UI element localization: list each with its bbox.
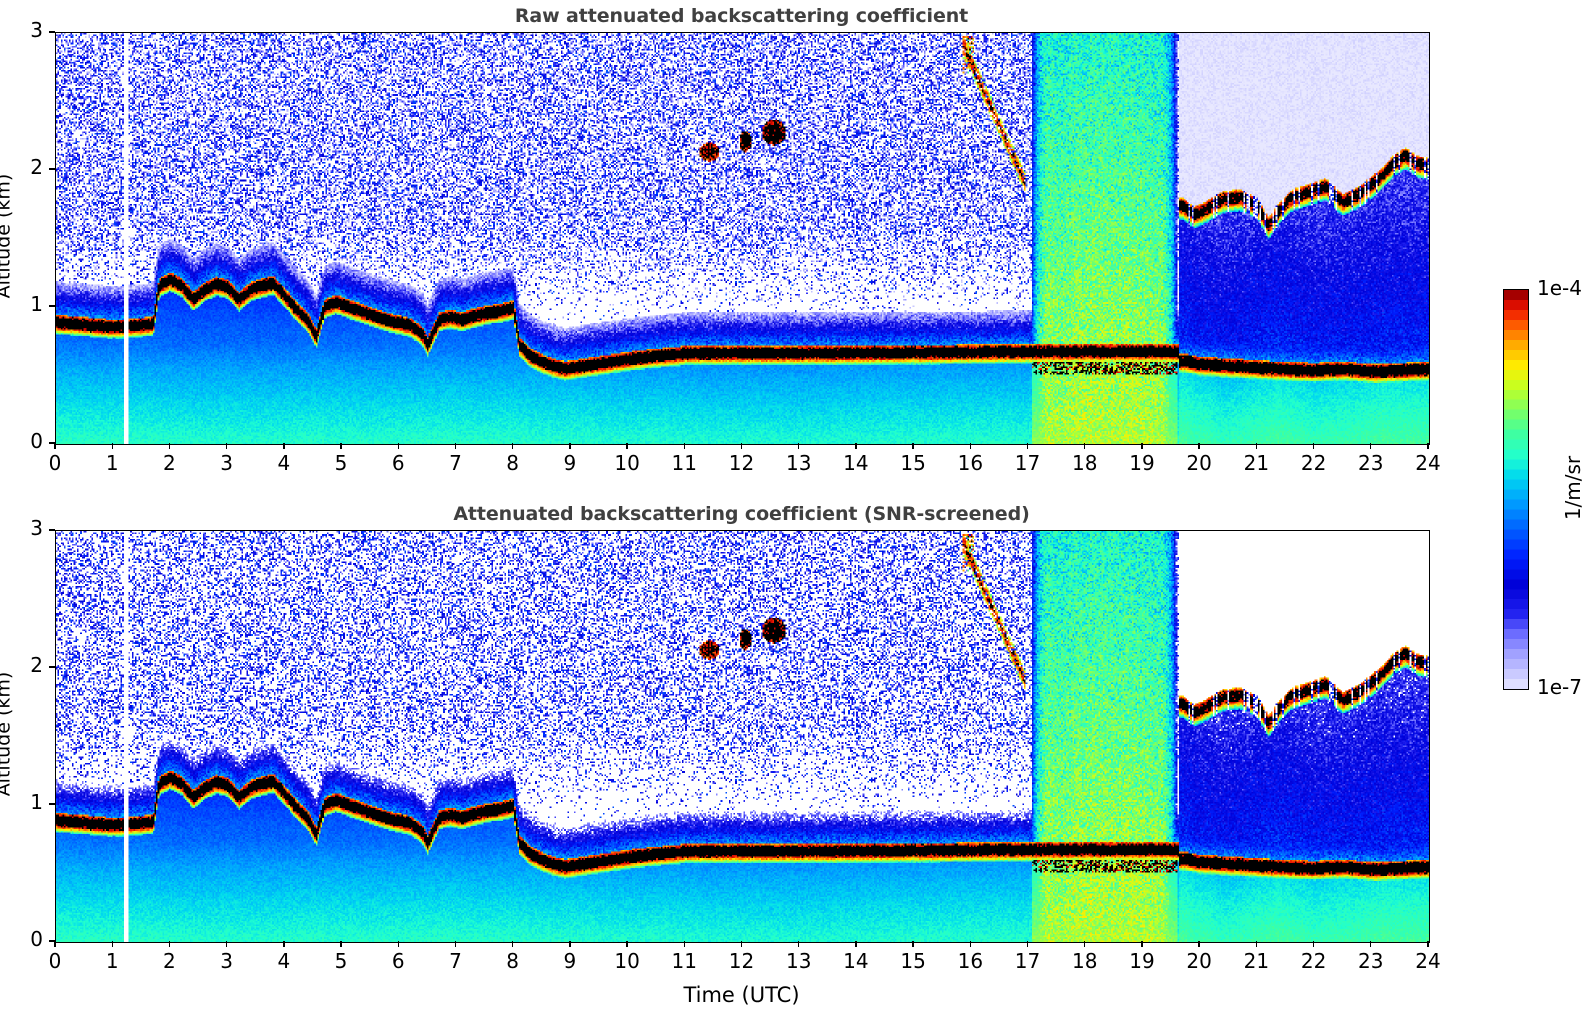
xtick-mark	[626, 443, 627, 449]
xtick-label: 21	[1226, 451, 1286, 475]
xtick-label: 5	[311, 451, 371, 475]
xtick-mark	[626, 941, 627, 947]
xtick-label: 17	[998, 949, 1058, 973]
xtick-mark	[684, 941, 685, 947]
xtick-mark	[970, 443, 971, 449]
colorbar	[1503, 289, 1529, 690]
xtick-label: 20	[1169, 451, 1229, 475]
xtick-label: 4	[254, 451, 314, 475]
xtick-mark	[1256, 443, 1257, 449]
xtick-mark	[54, 941, 55, 947]
xtick-label: 13	[769, 949, 829, 973]
xtick-mark	[398, 941, 399, 947]
xtick-label: 19	[1112, 949, 1172, 973]
xtick-label: 3	[197, 949, 257, 973]
xtick-mark	[1427, 941, 1428, 947]
xtick-label: 3	[197, 451, 257, 475]
xtick-mark	[112, 443, 113, 449]
xtick-mark	[455, 443, 456, 449]
xtick-mark	[226, 443, 227, 449]
xtick-mark	[855, 941, 856, 947]
xtick-mark	[1027, 443, 1028, 449]
xtick-label: 8	[483, 949, 543, 973]
xtick-mark	[798, 941, 799, 947]
axes-screened	[55, 530, 1430, 943]
xtick-mark	[684, 443, 685, 449]
colorbar-min-label: 1e-7	[1537, 675, 1582, 699]
xtick-mark	[340, 443, 341, 449]
ytick-mark	[49, 31, 55, 32]
xtick-label: 0	[25, 451, 85, 475]
xtick-mark	[1141, 443, 1142, 449]
xtick-label: 9	[540, 949, 600, 973]
xtick-mark	[1084, 941, 1085, 947]
xtick-label: 15	[883, 949, 943, 973]
colorbar-gradient	[1504, 290, 1528, 689]
xtick-mark	[1313, 941, 1314, 947]
xtick-label: 14	[826, 451, 886, 475]
xtick-label: 11	[654, 949, 714, 973]
xtick-mark	[455, 941, 456, 947]
xtick-label: 23	[1341, 949, 1401, 973]
xtick-label: 6	[368, 451, 428, 475]
ytick-mark	[49, 305, 55, 306]
xtick-label: 1	[82, 451, 142, 475]
axes-raw	[55, 32, 1430, 445]
xtick-label: 13	[769, 451, 829, 475]
xtick-mark	[1141, 941, 1142, 947]
xtick-mark	[1370, 941, 1371, 947]
xtick-label: 12	[712, 451, 772, 475]
xtick-mark	[169, 941, 170, 947]
xtick-label: 14	[826, 949, 886, 973]
y-axis-title-raw: Altitude (km)	[0, 30, 14, 441]
xtick-mark	[741, 443, 742, 449]
xtick-mark	[283, 443, 284, 449]
ytick-mark	[49, 529, 55, 530]
ytick-mark	[49, 803, 55, 804]
xtick-mark	[283, 941, 284, 947]
xtick-mark	[398, 443, 399, 449]
xtick-label: 20	[1169, 949, 1229, 973]
xtick-mark	[569, 443, 570, 449]
x-axis-title-screened: Time (UTC)	[55, 983, 1428, 1007]
xtick-label: 18	[1055, 949, 1115, 973]
xtick-label: 5	[311, 949, 371, 973]
ytick-mark	[49, 940, 55, 941]
xtick-label: 16	[940, 451, 1000, 475]
xtick-mark	[512, 443, 513, 449]
ytick-mark	[49, 168, 55, 169]
xtick-mark	[340, 941, 341, 947]
ytick-mark	[49, 442, 55, 443]
xtick-mark	[1370, 443, 1371, 449]
xtick-label: 24	[1398, 949, 1458, 973]
xtick-label: 7	[425, 451, 485, 475]
xtick-label: 10	[597, 949, 657, 973]
colorbar-unit-label: 1/m/sr	[1561, 388, 1585, 588]
xtick-label: 21	[1226, 949, 1286, 973]
xtick-mark	[1313, 443, 1314, 449]
ytick-mark	[49, 666, 55, 667]
xtick-mark	[54, 443, 55, 449]
heatmap-raw	[56, 33, 1429, 444]
xtick-label: 18	[1055, 451, 1115, 475]
xtick-label: 9	[540, 451, 600, 475]
xtick-mark	[169, 443, 170, 449]
xtick-label: 22	[1284, 451, 1344, 475]
xtick-label: 19	[1112, 451, 1172, 475]
xtick-mark	[1084, 443, 1085, 449]
panel-title-raw: Raw attenuated backscattering coefficien…	[55, 5, 1428, 27]
figure-root: Raw attenuated backscattering coefficien…	[0, 0, 1595, 1020]
xtick-mark	[569, 941, 570, 947]
xtick-mark	[512, 941, 513, 947]
heatmap-screened	[56, 531, 1429, 942]
xtick-mark	[1198, 941, 1199, 947]
xtick-mark	[1027, 941, 1028, 947]
xtick-label: 4	[254, 949, 314, 973]
xtick-label: 11	[654, 451, 714, 475]
xtick-label: 12	[712, 949, 772, 973]
xtick-label: 6	[368, 949, 428, 973]
colorbar-max-label: 1e-4	[1537, 276, 1582, 300]
panel-title-screened: Attenuated backscattering coefficient (S…	[55, 503, 1428, 525]
xtick-mark	[912, 443, 913, 449]
xtick-label: 2	[139, 949, 199, 973]
xtick-mark	[741, 941, 742, 947]
xtick-mark	[112, 941, 113, 947]
xtick-label: 22	[1284, 949, 1344, 973]
xtick-mark	[1198, 443, 1199, 449]
y-axis-title-screened: Altitude (km)	[0, 528, 14, 939]
xtick-label: 7	[425, 949, 485, 973]
xtick-mark	[798, 443, 799, 449]
xtick-mark	[1427, 443, 1428, 449]
xtick-label: 2	[139, 451, 199, 475]
xtick-label: 23	[1341, 451, 1401, 475]
xtick-mark	[226, 941, 227, 947]
xtick-label: 10	[597, 451, 657, 475]
xtick-label: 1	[82, 949, 142, 973]
xtick-mark	[912, 941, 913, 947]
xtick-mark	[855, 443, 856, 449]
xtick-label: 15	[883, 451, 943, 475]
xtick-mark	[970, 941, 971, 947]
xtick-label: 0	[25, 949, 85, 973]
xtick-label: 16	[940, 949, 1000, 973]
xtick-label: 17	[998, 451, 1058, 475]
xtick-label: 8	[483, 451, 543, 475]
xtick-label: 24	[1398, 451, 1458, 475]
xtick-mark	[1256, 941, 1257, 947]
